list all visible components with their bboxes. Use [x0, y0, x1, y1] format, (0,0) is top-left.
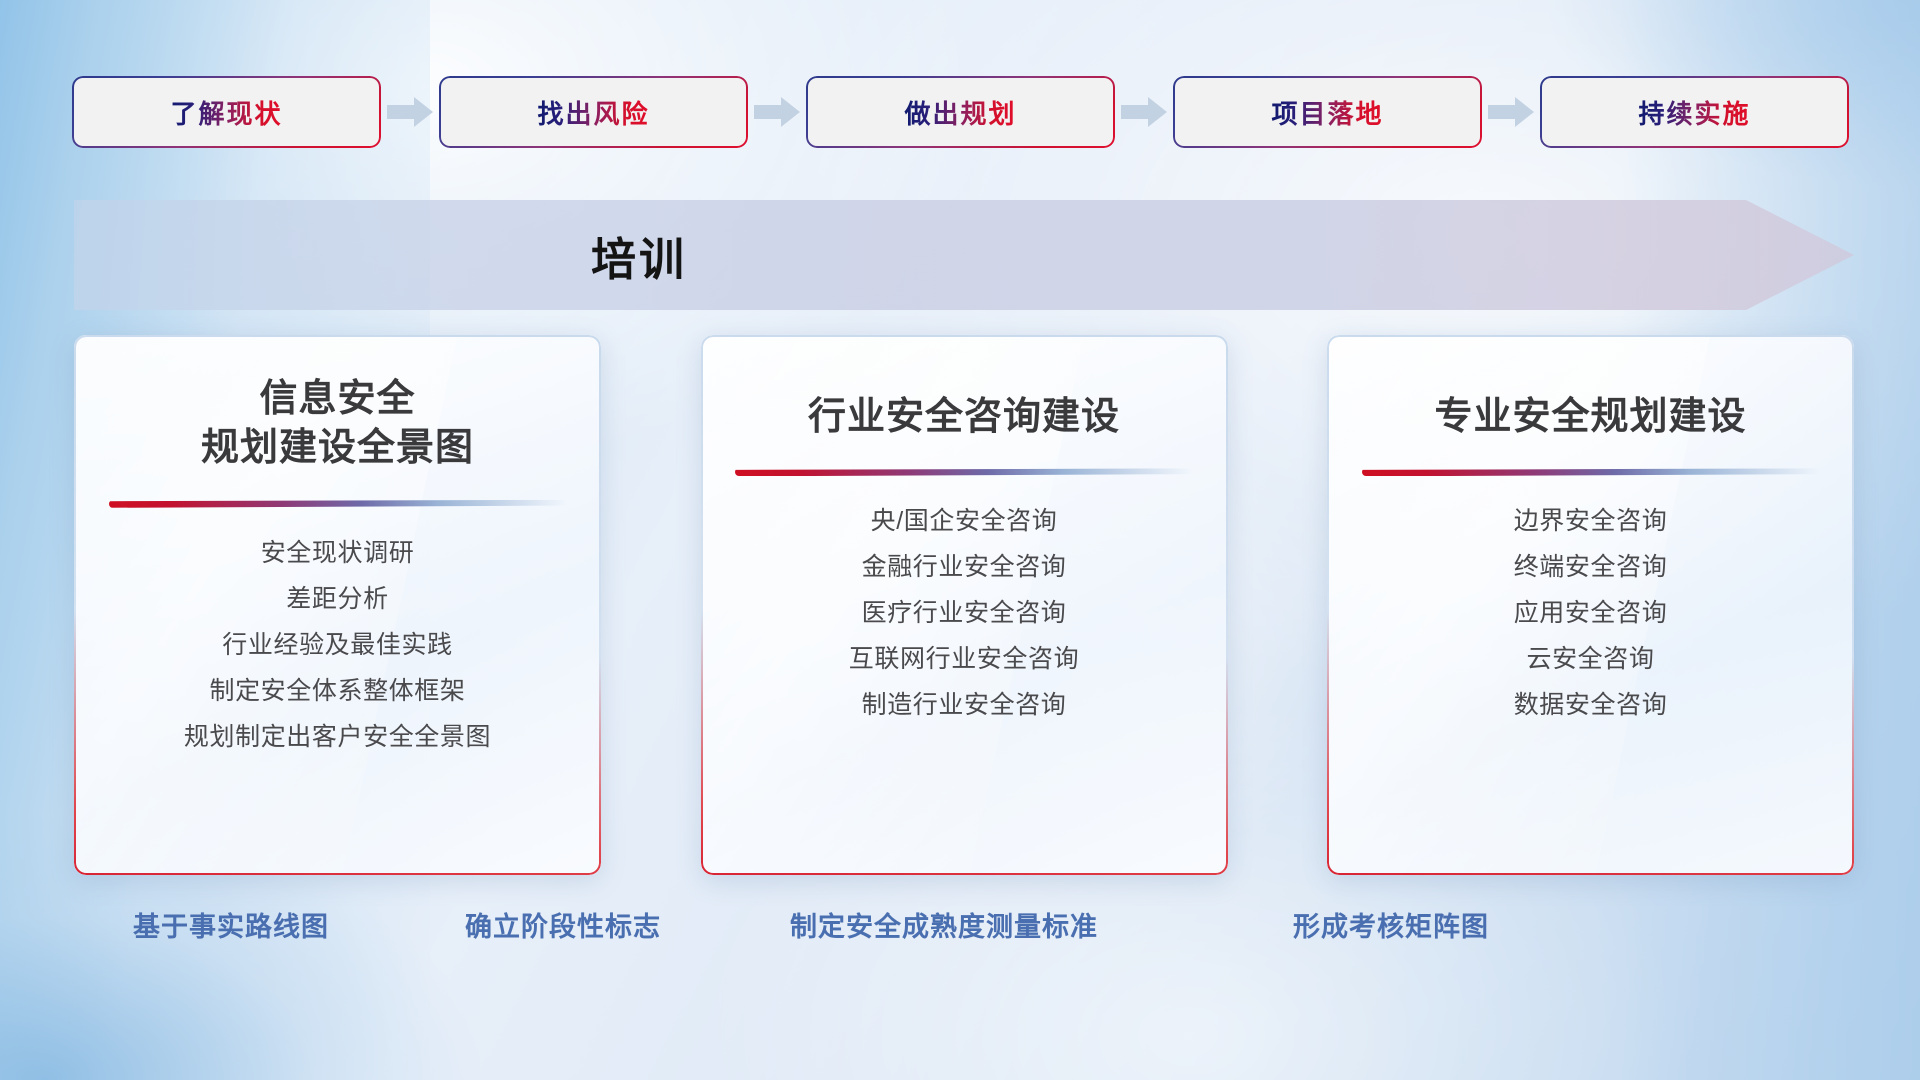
step-arrow-icon-3	[1113, 78, 1175, 146]
step-label-3: 做出规划	[904, 94, 1016, 131]
banner-title: 培训	[74, 200, 1204, 310]
list-item: 医疗行业安全咨询	[862, 598, 1067, 628]
list-item: 数据安全咨询	[1514, 690, 1668, 720]
slide-stage: 了解现状 找出风险 做出规划 项目落地	[0, 0, 1920, 1080]
card-divider-3	[1362, 468, 1820, 476]
step-arrow-icon-1	[379, 78, 441, 146]
list-item: 差距分析	[286, 584, 388, 614]
step-label-1: 了解现状	[170, 94, 282, 131]
card-divider-2	[735, 468, 1193, 476]
step-box-1[interactable]: 了解现状	[74, 78, 379, 146]
list-item: 安全现状调研	[261, 538, 415, 568]
caption-4: 形成考核矩阵图	[1293, 905, 1489, 944]
card-divider-1	[109, 500, 567, 508]
training-banner: 培训	[74, 200, 1854, 310]
caption-3: 制定安全成熟度测量标准	[790, 905, 1098, 944]
step-box-2[interactable]: 找出风险	[441, 78, 746, 146]
list-item: 边界安全咨询	[1514, 506, 1668, 536]
card-row: 信息安全 规划建设全景图 安全现状调研 差距分析 行业经验及最佳实践 制定安全体…	[74, 335, 1854, 875]
card-industry-security-consulting[interactable]: 行业安全咨询建设 央/国企安全咨询 金融行业安全咨询 医疗行业安全咨询 互联网行…	[701, 335, 1228, 875]
step-box-5[interactable]: 持续实施	[1542, 78, 1847, 146]
list-item: 制定安全体系整体框架	[209, 676, 465, 706]
list-item: 终端安全咨询	[1514, 552, 1668, 582]
step-arrow-icon-4	[1480, 78, 1542, 146]
step-arrow-icon-2	[746, 78, 808, 146]
list-item: 应用安全咨询	[1514, 598, 1668, 628]
card-list-1: 安全现状调研 差距分析 行业经验及最佳实践 制定安全体系整体框架 规划制定出客户…	[184, 538, 491, 752]
list-item: 规划制定出客户安全全景图	[184, 722, 491, 752]
list-item: 央/国企安全咨询	[871, 506, 1058, 536]
list-item: 制造行业安全咨询	[862, 690, 1067, 720]
step-box-4[interactable]: 项目落地	[1175, 78, 1480, 146]
caption-1: 基于事实路线图	[133, 905, 329, 944]
card-list-2: 央/国企安全咨询 金融行业安全咨询 医疗行业安全咨询 互联网行业安全咨询 制造行…	[849, 506, 1079, 720]
card-professional-security-planning[interactable]: 专业安全规划建设 边界安全咨询 终端安全咨询 应用安全咨询 云安全咨询 数据安全…	[1327, 335, 1854, 875]
process-step-row: 了解现状 找出风险 做出规划 项目落地	[74, 78, 1846, 146]
list-item: 行业经验及最佳实践	[222, 630, 452, 660]
step-label-5: 持续实施	[1638, 94, 1750, 131]
step-label-2: 找出风险	[537, 94, 649, 131]
step-label-4: 项目落地	[1271, 94, 1383, 131]
list-item: 互联网行业安全咨询	[849, 644, 1079, 674]
card-list-3: 边界安全咨询 终端安全咨询 应用安全咨询 云安全咨询 数据安全咨询	[1514, 506, 1668, 720]
list-item: 云安全咨询	[1526, 644, 1654, 674]
card-title-1: 信息安全 规划建设全景图	[201, 375, 474, 474]
card-title-2: 行业安全咨询建设	[808, 393, 1120, 442]
card-information-security-blueprint[interactable]: 信息安全 规划建设全景图 安全现状调研 差距分析 行业经验及最佳实践 制定安全体…	[74, 335, 601, 875]
caption-row: 基于事实路线图 确立阶段性标志 制定安全成熟度测量标准 形成考核矩阵图	[0, 905, 1920, 965]
caption-2: 确立阶段性标志	[465, 905, 661, 944]
card-title-3: 专业安全规划建设	[1434, 393, 1746, 442]
step-box-3[interactable]: 做出规划	[808, 78, 1113, 146]
list-item: 金融行业安全咨询	[862, 552, 1067, 582]
